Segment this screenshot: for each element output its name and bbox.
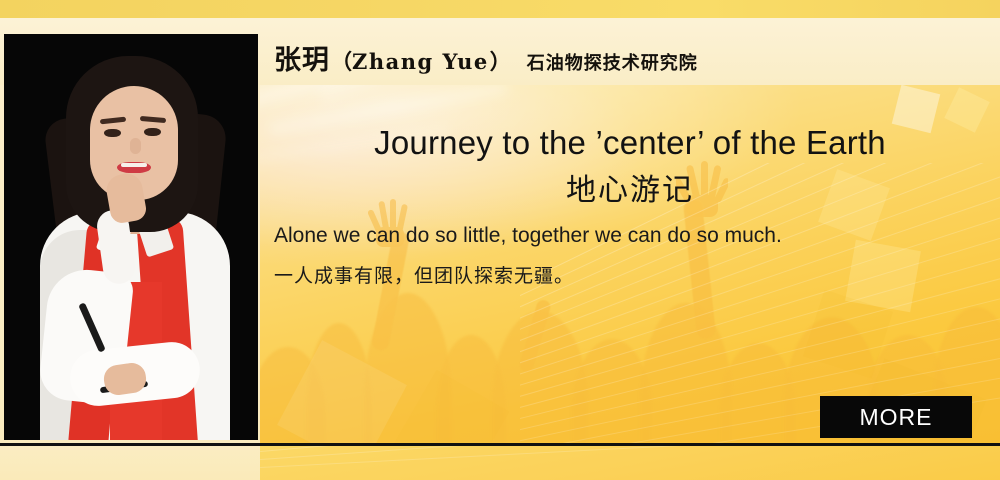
speaker-name-english: Zhang Yue — [352, 49, 489, 74]
paren-open: （ — [331, 46, 352, 76]
crowd-silhouette — [640, 303, 732, 443]
more-button[interactable]: MORE — [820, 396, 972, 438]
speaker-name-row: 张玥 （ Zhang Yue ） 石油物探技术研究院 — [274, 38, 698, 77]
top-gold-band — [0, 0, 1000, 18]
speaker-name-chinese: 张玥 — [274, 38, 330, 77]
speaker-portrait — [4, 34, 258, 440]
talk-title-english: Journey to the ’center’ of the Earth — [260, 124, 1000, 162]
horizontal-divider — [0, 443, 1000, 446]
bottom-cream-band — [0, 443, 260, 480]
speaker-affiliation: 石油物探技术研究院 — [527, 49, 698, 75]
more-button-label: MORE — [860, 404, 933, 431]
speaker-banner: 张玥 （ Zhang Yue ） 石油物探技术研究院 Journey to th… — [0, 0, 1000, 480]
bottom-gold-band — [260, 443, 1000, 480]
quote-english: Alone we can do so little, together we c… — [274, 224, 782, 248]
quote-chinese: 一人成事有限，但团队探索无疆。 — [274, 261, 574, 288]
paren-close: ） — [490, 46, 511, 76]
talk-title-chinese: 地心游记 — [260, 165, 1000, 209]
